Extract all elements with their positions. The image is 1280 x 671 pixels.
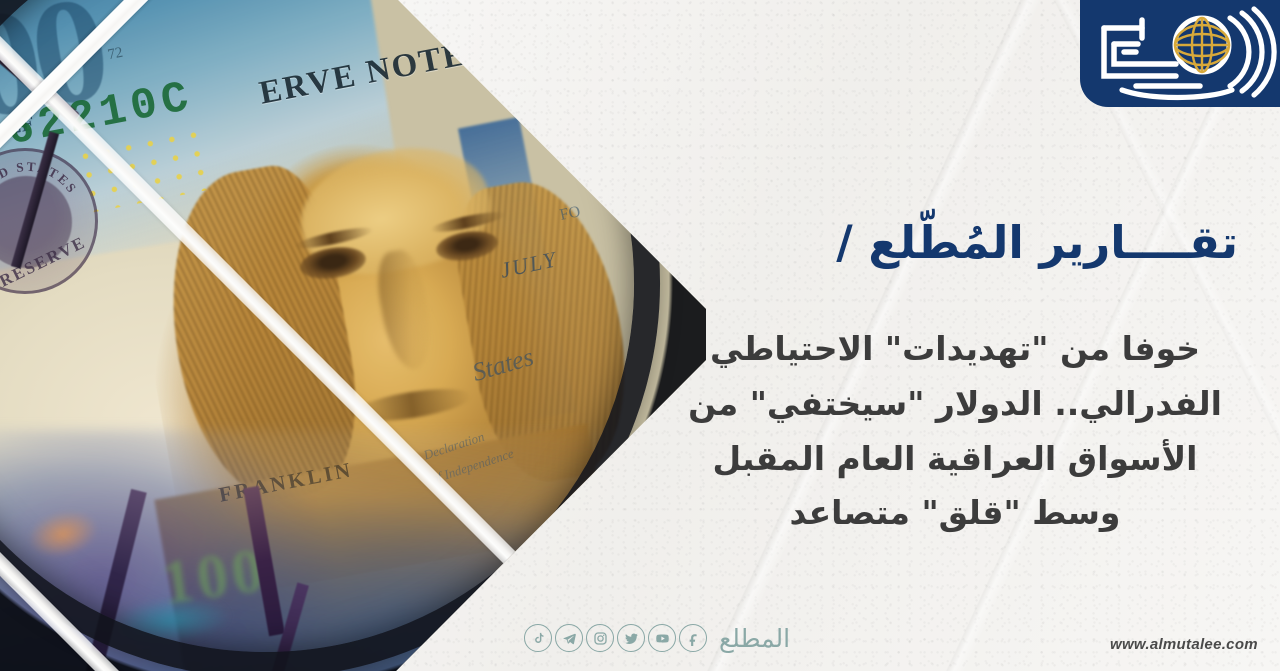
page-title: تقــــارير المُطّلع /	[678, 216, 1238, 269]
headline: خوفا من "تهديدات" الاحتياطي الفدرالي.. ا…	[670, 322, 1240, 541]
headline-line: الأسواق العراقية العام المقبل	[670, 432, 1240, 487]
headline-line: الفدرالي.. الدولار "سيختفي" من	[670, 377, 1240, 432]
instagram-icon[interactable]	[586, 624, 614, 652]
brand-label: المطلع	[719, 626, 790, 651]
headline-line: خوفا من "تهديدات" الاحتياطي	[670, 322, 1240, 377]
website-url: www.almutalee.com	[1110, 636, 1258, 653]
report-card: 00 72 ERVE NOTE EF 62210C UNITED STATES …	[0, 0, 1280, 671]
youtube-icon[interactable]	[648, 624, 676, 652]
magnifier-lens-rim	[0, 0, 699, 671]
social-links-row: المطلع	[524, 624, 790, 652]
facebook-icon[interactable]	[679, 624, 707, 652]
twitter-icon[interactable]	[617, 624, 645, 652]
globe-icon	[1175, 18, 1229, 72]
headline-line: وسط "قلق" متصاعد	[670, 486, 1240, 541]
logo-mark	[1080, 0, 1280, 107]
dollar-magnifier-photo: 00 72 ERVE NOTE EF 62210C UNITED STATES …	[0, 0, 706, 671]
almutalee-logo[interactable]	[1080, 0, 1280, 107]
telegram-icon[interactable]	[555, 624, 583, 652]
tiktok-icon[interactable]	[524, 624, 552, 652]
